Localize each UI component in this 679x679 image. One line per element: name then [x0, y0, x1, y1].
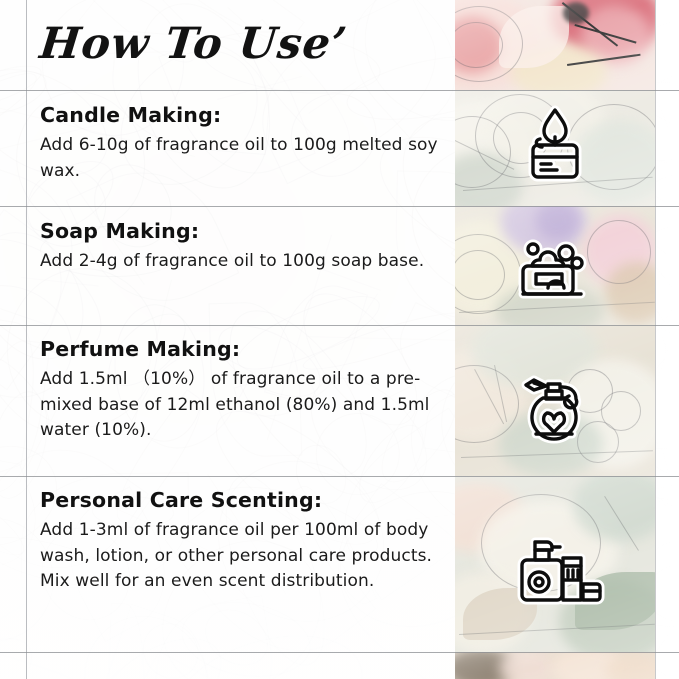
section-heading: Candle Making:	[40, 103, 440, 127]
section-soap-making: Soap Making: Add 2-4g of fragrance oil t…	[40, 219, 440, 275]
section-candle-making: Candle Making: Add 6-10g of fragrance oi…	[40, 103, 440, 184]
section-heading: Personal Care Scenting:	[40, 488, 440, 512]
page-title-text: How To Use	[37, 19, 333, 69]
divider-soap	[0, 325, 679, 326]
section-perfume-making: Perfume Making: Add 1.5ml （10%） of fragr…	[40, 337, 440, 444]
section-heading: Perfume Making:	[40, 337, 440, 361]
lily-of-the-valley-art	[455, 325, 655, 476]
how-to-use-infographic: How To Use’ Candle Making: Add 6-10g of …	[0, 0, 679, 679]
section-body: Add 6-10g of fragrance oil to 100g melte…	[40, 133, 440, 184]
left-margin-rule	[26, 0, 27, 679]
berries-and-blossom-art	[455, 206, 655, 325]
foliage-and-petals-art	[455, 476, 655, 652]
right-margin-rule	[655, 0, 656, 679]
section-body: Add 1-3ml of fragrance oil per 100ml of …	[40, 518, 440, 595]
rose-footer-art	[455, 652, 655, 679]
divider-personal-care	[0, 652, 679, 653]
illustration-column	[455, 0, 655, 679]
divider-candle	[0, 206, 679, 207]
section-heading: Soap Making:	[40, 219, 440, 243]
section-body: Add 2-4g of fragrance oil to 100g soap b…	[40, 249, 440, 275]
section-personal-care-scenting: Personal Care Scenting: Add 1-3ml of fra…	[40, 488, 440, 595]
page-title: How To Use’	[36, 4, 444, 84]
divider-perfume	[0, 476, 679, 477]
divider-title	[0, 90, 679, 91]
rose-and-butterfly-art	[455, 0, 655, 90]
white-blossom-art	[455, 90, 655, 206]
section-body: Add 1.5ml （10%） of fragrance oil to a pr…	[40, 367, 440, 444]
illustration-fade-edge	[655, 0, 679, 679]
